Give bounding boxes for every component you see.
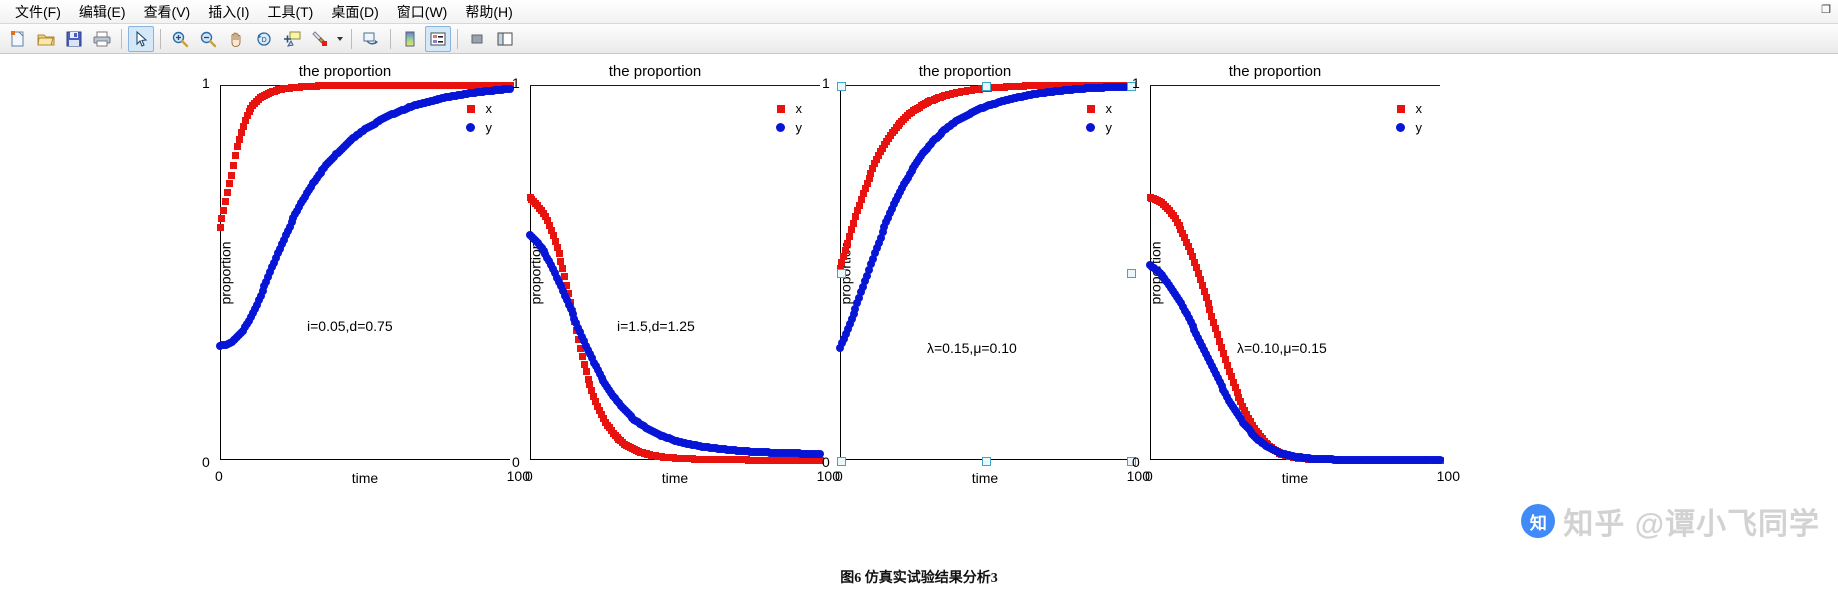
rotate-3d-icon[interactable]: D [251,26,277,52]
legend-item-x[interactable]: x [772,99,803,118]
new-figure-icon[interactable] [5,26,31,52]
legend-circle-marker-icon [1392,123,1410,132]
annotation-text: λ=0.10,μ=0.15 [1237,340,1327,356]
x-axis-label: time [840,470,1130,486]
separator-1 [121,29,122,49]
selection-handle[interactable] [837,457,846,466]
separator-3 [351,29,352,49]
data-point-x [848,226,855,233]
data-cursor-icon[interactable] [279,26,305,52]
legend-label: x [1416,101,1423,116]
legend-label: y [1416,120,1423,135]
data-point-x [842,247,849,254]
legend-square-marker-icon [772,105,790,113]
data-point-x [846,233,853,240]
x-tick-label-max: 100 [1437,468,1460,484]
data-point-x [232,152,239,159]
data-point-x [236,136,243,143]
separator-4 [390,29,391,49]
zoom-in-icon[interactable] [167,26,193,52]
axes-title: the proportion [1110,63,1440,80]
data-point-x [844,240,851,247]
insert-legend-icon[interactable] [425,26,451,52]
separator-2 [160,29,161,49]
zhihu-logo-icon: 知 [1521,504,1555,538]
y-tick-label-min: 0 [822,454,830,470]
toolbar: D [0,24,1838,54]
annotation-text: λ=0.15,μ=0.10 [927,340,1017,356]
legend[interactable]: xy [462,99,493,137]
data-point-x [557,258,564,265]
plot-area[interactable]: 100100timeproportionxyλ=0.10,μ=0.15 [1150,85,1440,460]
save-figure-icon[interactable] [61,26,87,52]
pan-hand-icon[interactable] [223,26,249,52]
data-point-x [230,162,237,169]
plot-panel-4[interactable]: the proportion100100timeproportionxyλ=0.… [1110,55,1440,555]
legend-square-marker-icon [1392,105,1410,113]
legend[interactable]: xy [772,99,803,137]
data-point-x [561,273,568,280]
legend-item-x[interactable]: x [462,99,493,118]
separator-5 [457,29,458,49]
x-axis-label: time [220,470,510,486]
plot-panel-3[interactable]: the proportion100100timeproportionxyλ=0.… [800,55,1130,555]
data-point-x [238,129,245,136]
x-axis-line [840,459,1130,460]
x-axis-label: time [1150,470,1440,486]
legend-square-marker-icon [1082,105,1100,113]
data-point-x [559,265,566,272]
menu-window[interactable]: 窗口(W) [388,0,457,24]
window-restore-icon[interactable]: ❐ [1818,2,1834,18]
selection-handle[interactable] [982,457,991,466]
matlab-figure-window: 文件(F)编辑(E)查看(V)插入(I)工具(T)桌面(D)窗口(W)帮助(H)… [0,0,1838,589]
data-point-x [226,180,233,187]
data-point-x [234,143,241,150]
brush-data-icon[interactable] [307,26,333,52]
y-tick-label-max: 1 [512,75,520,91]
y-tick-label-max: 1 [822,75,830,91]
legend-square-marker-icon [462,105,480,113]
menu-bar: 文件(F)编辑(E)查看(V)插入(I)工具(T)桌面(D)窗口(W)帮助(H) [0,0,1838,24]
open-file-icon[interactable] [33,26,59,52]
data-point-x [556,250,563,257]
menu-edit[interactable]: 编辑(E) [70,0,135,24]
menu-file[interactable]: 文件(F) [6,0,70,24]
data-point-x [579,353,586,360]
hide-plot-tools-icon[interactable] [464,26,490,52]
axes-title: the proportion [180,63,510,80]
legend-item-y[interactable]: y [1082,118,1113,137]
legend[interactable]: xy [1082,99,1113,137]
y-axis-label: proportion [218,241,234,304]
y-tick-label-min: 0 [202,454,210,470]
x-axis-label: time [530,470,820,486]
plot-panel-2[interactable]: the proportion100100timeproportionxyi=1.… [490,55,820,555]
plot-panel-1[interactable]: the proportion100100timeproportionxyi=0.… [180,55,510,555]
show-plot-tools-icon[interactable] [492,26,518,52]
data-point-y [1436,456,1444,464]
legend-item-y[interactable]: y [772,118,803,137]
plot-area[interactable]: 100100timeproportionxyi=1.5,d=1.25 [530,85,820,460]
data-point-x [583,368,590,375]
svg-text:D: D [262,37,267,44]
data-point-x [852,213,859,220]
watermark: 知 知乎 @谭小飞同学 [1513,499,1820,543]
x-axis-line [220,459,510,460]
legend-circle-marker-icon [772,123,790,132]
menu-desktop[interactable]: 桌面(D) [322,0,387,24]
legend-item-x[interactable]: x [1082,99,1113,118]
top-axis-line [1150,85,1440,86]
axes-title: the proportion [800,63,1130,80]
data-point-x [838,259,845,266]
legend-circle-marker-icon [1082,123,1100,132]
menu-tools[interactable]: 工具(T) [258,0,322,24]
data-point-x [840,253,847,260]
axes-title: the proportion [490,63,820,80]
brush-dropdown-caret-icon[interactable] [334,27,346,51]
legend-item-y[interactable]: y [1392,118,1423,137]
legend-item-y[interactable]: y [462,118,493,137]
insert-colorbar-icon[interactable] [397,26,423,52]
link-plot-icon[interactable] [358,26,384,52]
y-tick-label-max: 1 [202,75,210,91]
legend[interactable]: xy [1392,99,1423,137]
pointer-select-icon[interactable] [128,26,154,52]
zoom-out-icon[interactable] [195,26,221,52]
data-point-x [837,265,844,272]
data-point-x [217,224,224,231]
watermark-text: 知乎 @谭小飞同学 [1563,499,1820,543]
data-point-x [581,361,588,368]
annotation-text: i=1.5,d=1.25 [617,318,695,334]
plot-area[interactable]: 100100timeproportionxyi=0.05,d=0.75 [220,85,510,460]
selection-handle[interactable] [837,82,846,91]
menu-help[interactable]: 帮助(H) [456,0,521,24]
data-point-x [218,215,225,222]
data-point-x [222,198,229,205]
y-tick-label-max: 1 [1132,75,1140,91]
legend-circle-marker-icon [462,123,480,132]
plot-area[interactable]: 100100timeproportionxyλ=0.15,μ=0.10 [840,85,1130,460]
figure-caption: 图6 仿真实试验结果分析3 [0,567,1838,587]
y-tick-label-min: 0 [1132,454,1140,470]
data-point-x [224,189,231,196]
data-point-x [220,207,227,214]
y-tick-label-min: 0 [512,454,520,470]
menu-view[interactable]: 查看(V) [135,0,200,24]
menu-insert[interactable]: 插入(I) [199,0,258,24]
data-point-x [850,220,857,227]
legend-item-x[interactable]: x [1392,99,1423,118]
print-figure-icon[interactable] [89,26,115,52]
top-axis-line [530,85,820,86]
annotation-text: i=0.05,d=0.75 [307,318,393,334]
data-point-x [228,172,235,179]
